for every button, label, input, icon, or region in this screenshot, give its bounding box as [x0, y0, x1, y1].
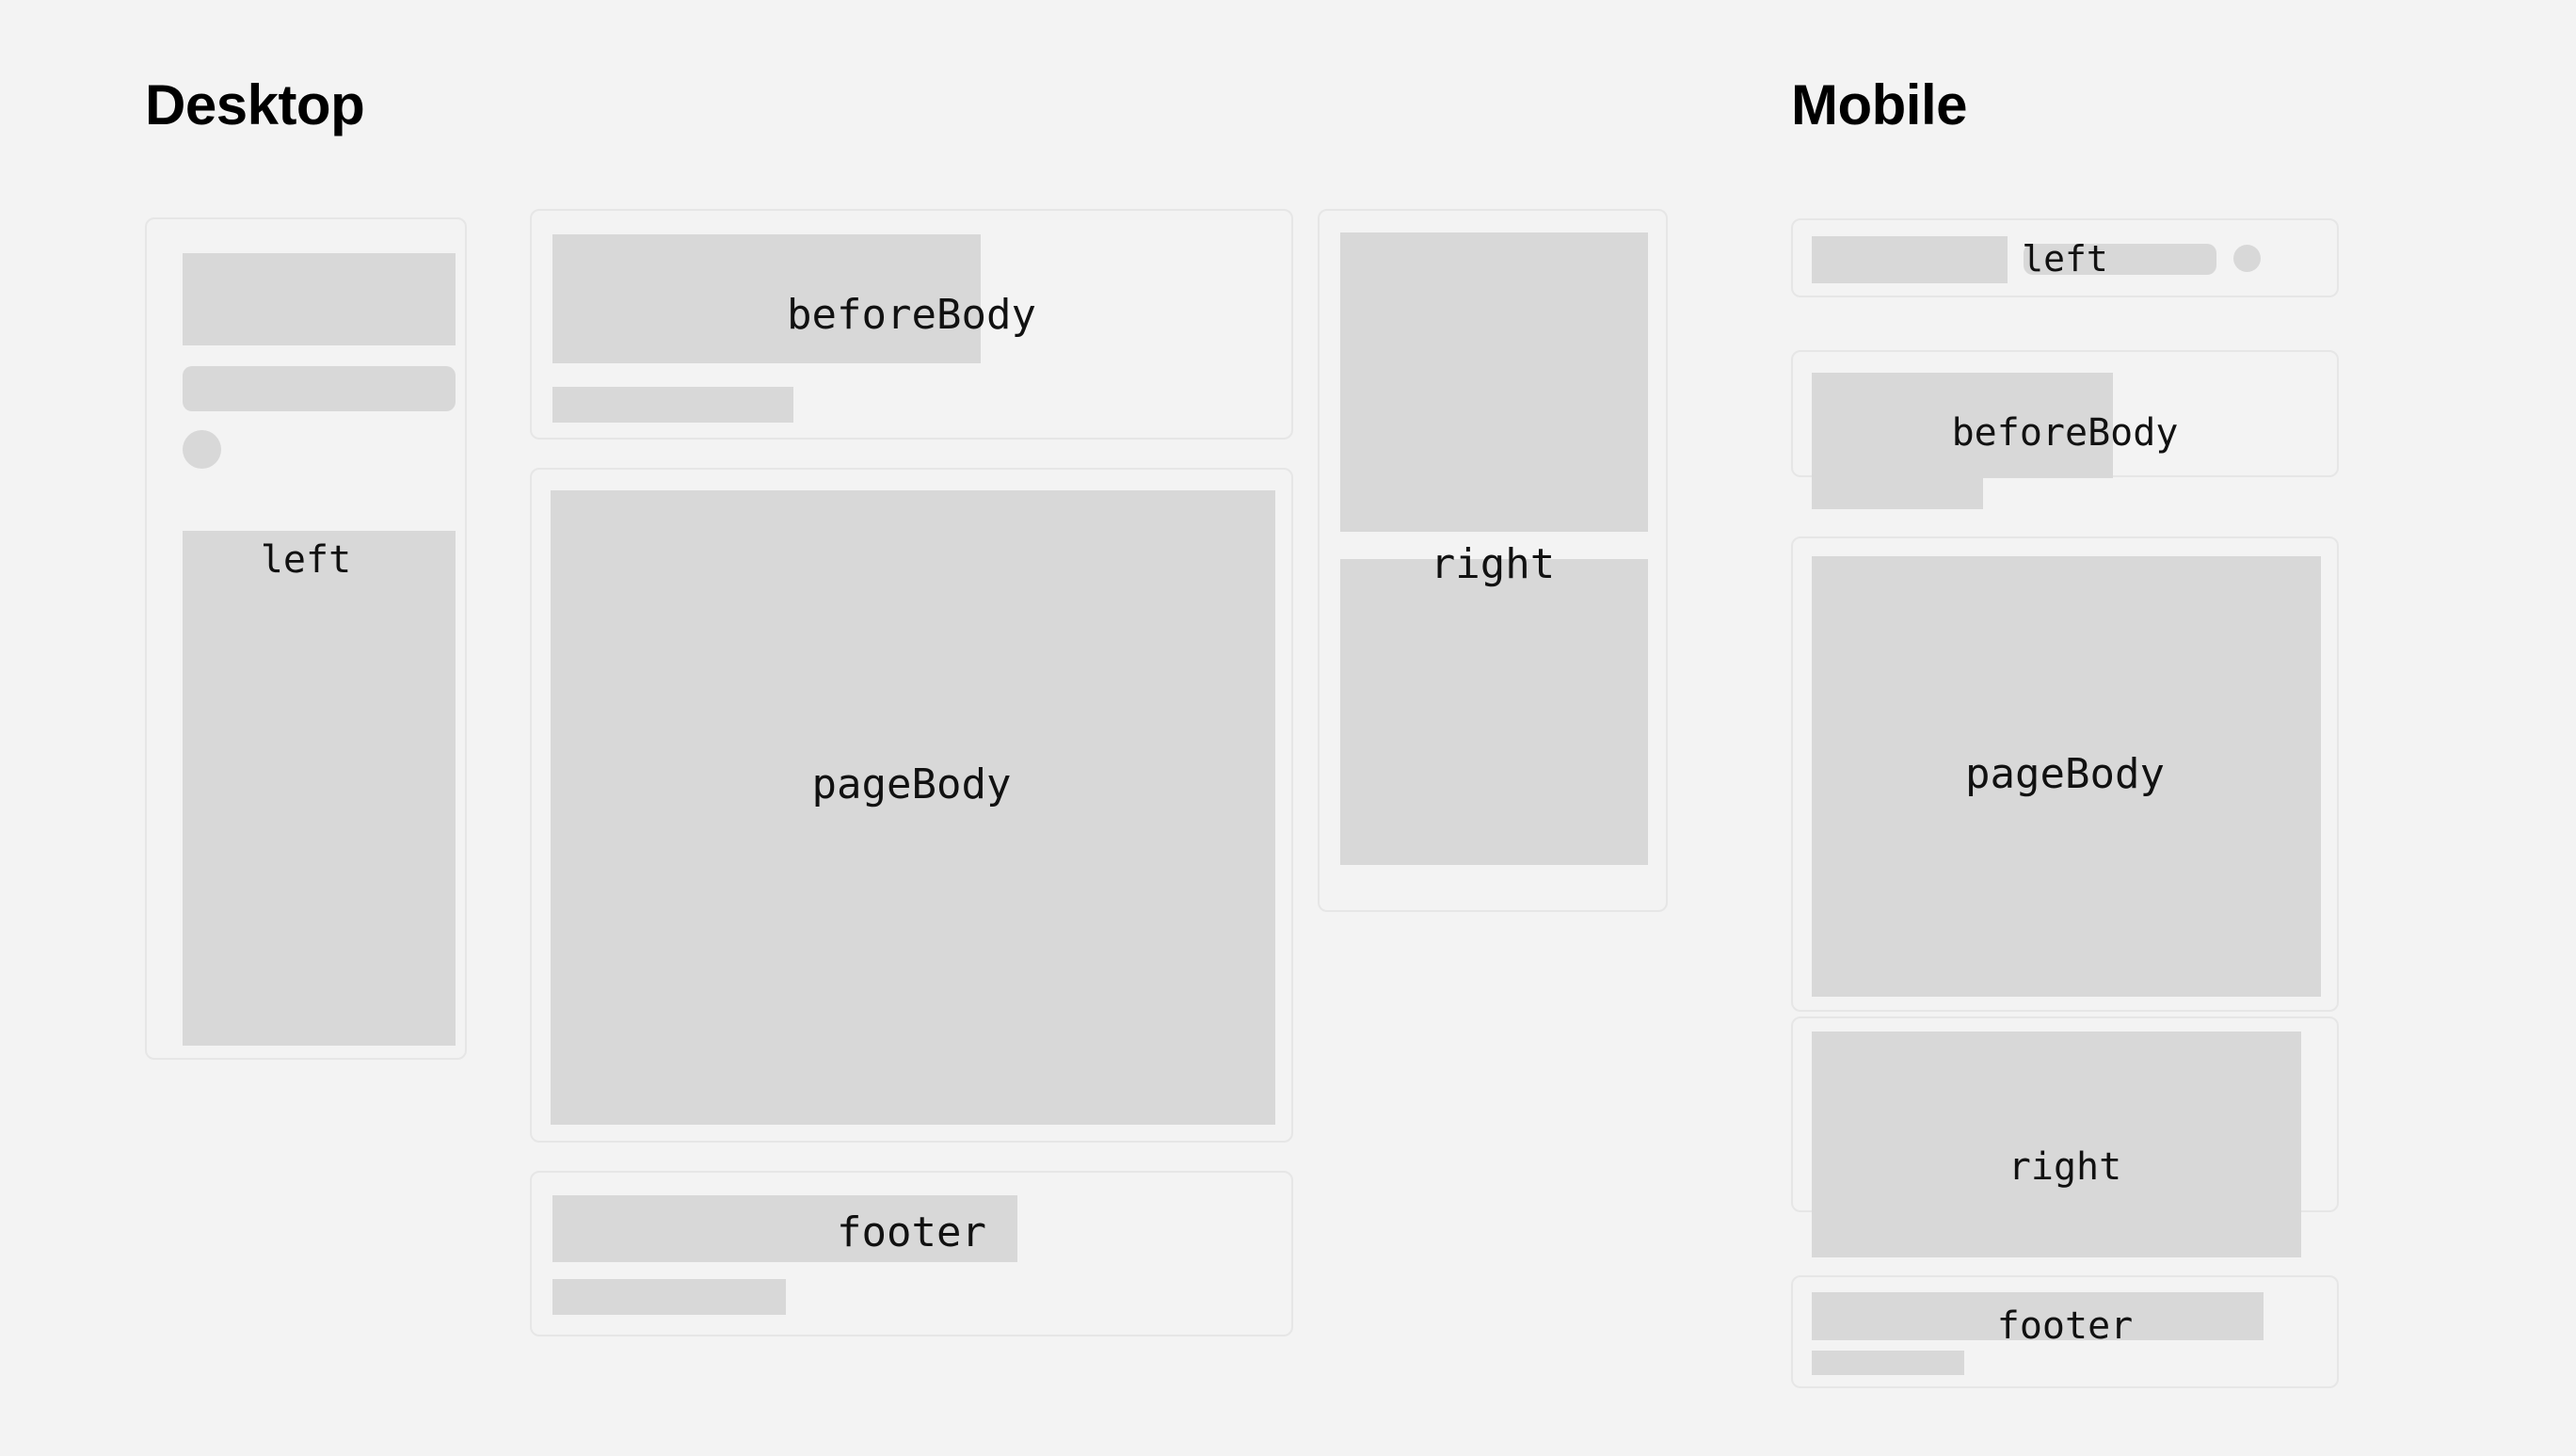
layout-preview-page: Desktop left beforeBody pageBody footer [0, 0, 2576, 1456]
skeleton-block [1812, 1032, 2057, 1257]
desktop-right-skeletons [1320, 211, 1666, 910]
desktop-beforebody-skeletons [532, 211, 1291, 438]
mobile-beforebody-skeletons [1793, 352, 2337, 475]
desktop-pagebody-skeletons [532, 470, 1291, 1141]
desktop-section-title: Desktop [145, 77, 364, 134]
mobile-region-left[interactable] [1791, 218, 2339, 297]
skeleton-pill [2024, 244, 2216, 275]
mobile-footer-skeletons [1793, 1277, 2337, 1386]
skeleton-block [1812, 478, 1983, 509]
desktop-left-skeletons [147, 219, 465, 1058]
mobile-region-footer[interactable] [1791, 1275, 2339, 1388]
desktop-region-left[interactable] [145, 217, 467, 1060]
skeleton-block [1340, 559, 1648, 865]
skeleton-block [183, 531, 456, 1046]
mobile-right-skeletons [1793, 1018, 2337, 1210]
skeleton-block [551, 490, 1275, 1125]
skeleton-avatar-circle [2233, 245, 2261, 272]
skeleton-block [552, 234, 981, 363]
skeleton-block [1812, 1351, 1964, 1375]
desktop-footer-skeletons [532, 1173, 1291, 1335]
desktop-region-beforebody[interactable] [530, 209, 1293, 440]
mobile-section-title: Mobile [1791, 77, 1967, 134]
desktop-region-right[interactable] [1318, 209, 1668, 912]
skeleton-block [552, 1195, 1017, 1262]
skeleton-block [183, 366, 456, 411]
skeleton-block [1812, 1292, 2264, 1340]
mobile-pagebody-skeletons [1793, 538, 2337, 1010]
skeleton-block [1340, 232, 1648, 532]
skeleton-block [183, 253, 456, 345]
mobile-left-skeletons [1793, 220, 2337, 296]
skeleton-block [552, 1279, 786, 1315]
mobile-region-right[interactable] [1791, 1016, 2339, 1212]
skeleton-block [552, 387, 793, 423]
desktop-region-footer[interactable] [530, 1171, 1293, 1336]
skeleton-block [2043, 1032, 2301, 1257]
mobile-region-pagebody[interactable] [1791, 536, 2339, 1012]
mobile-region-beforebody[interactable] [1791, 350, 2339, 477]
skeleton-avatar-circle [183, 430, 221, 469]
skeleton-block [1812, 236, 2008, 283]
desktop-region-pagebody[interactable] [530, 468, 1293, 1143]
skeleton-block [1812, 373, 2113, 478]
skeleton-block [1812, 556, 2321, 997]
